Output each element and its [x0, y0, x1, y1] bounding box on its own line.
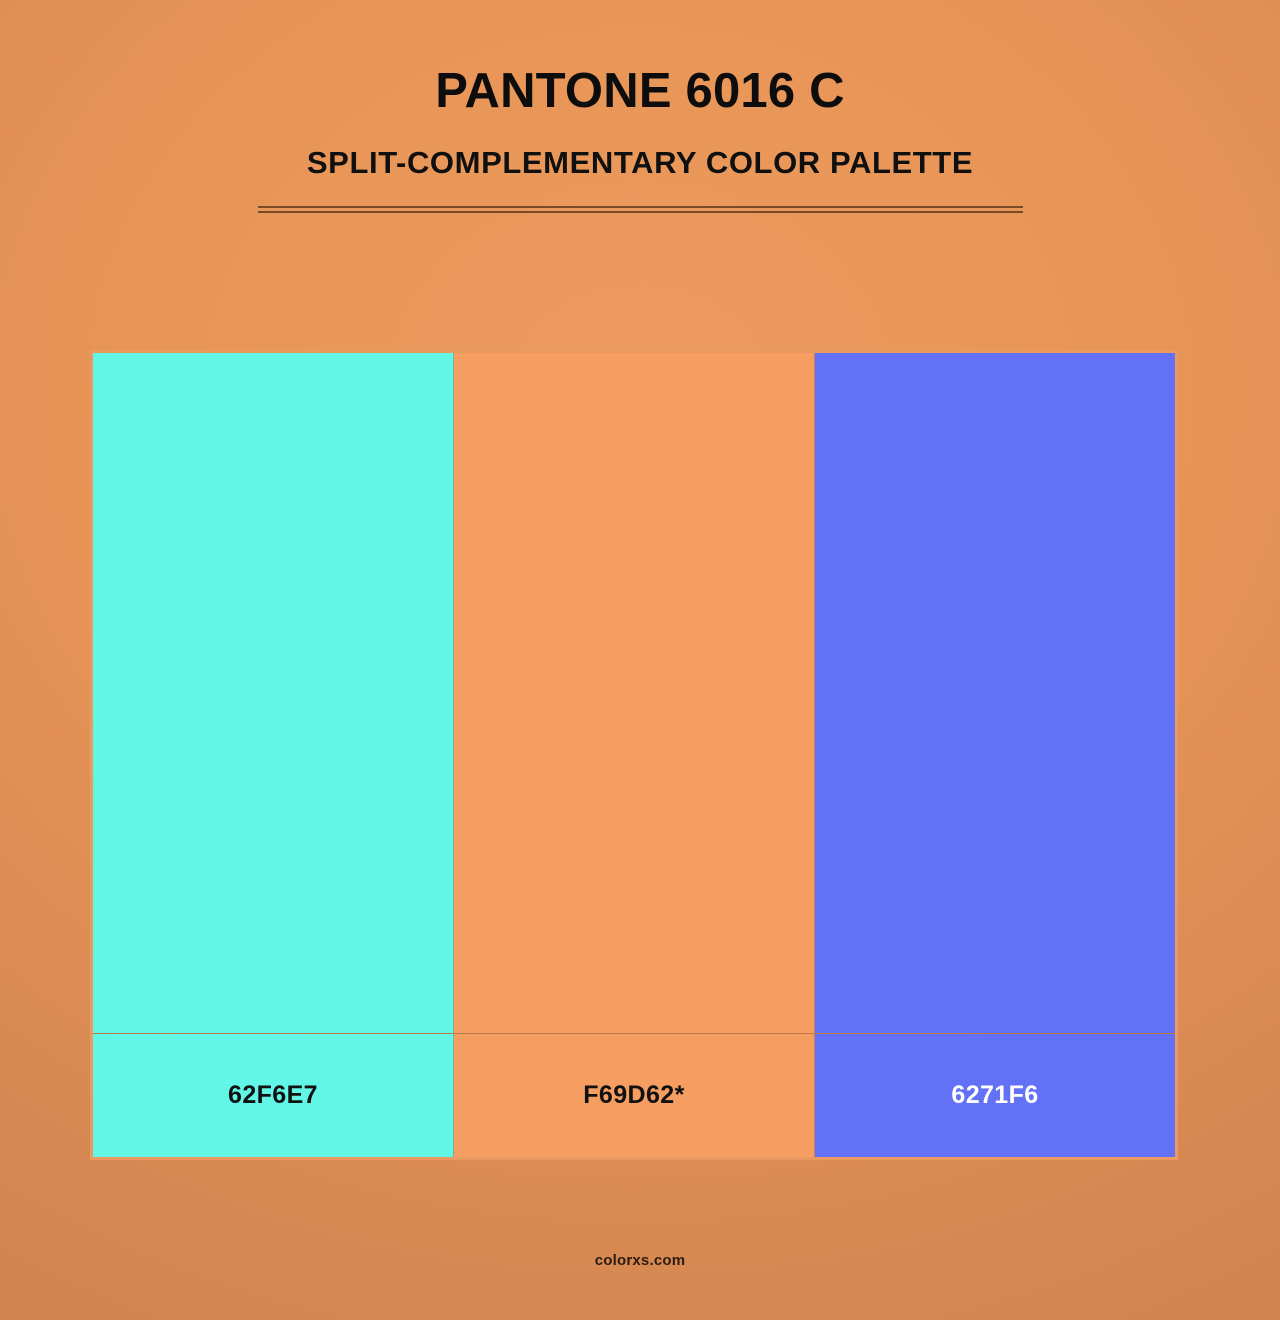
footer: colorxs.com [0, 1200, 1280, 1320]
site-watermark: colorxs.com [595, 1252, 686, 1269]
header-divider [258, 206, 1023, 213]
page-subtitle: SPLIT-COMPLEMENTARY COLOR PALETTE [307, 145, 973, 181]
color-swatch-1[interactable] [93, 353, 454, 1033]
page-title: PANTONE 6016 C [435, 66, 844, 118]
page-root: PANTONE 6016 C SPLIT-COMPLEMENTARY COLOR… [0, 0, 1280, 1320]
color-palette-block: 62F6E7 F69D62* 6271F6 [90, 350, 1178, 1160]
color-swatch-2[interactable] [454, 353, 815, 1033]
color-label-cell-2[interactable]: F69D62* [454, 1034, 815, 1157]
swatch-row [93, 353, 1175, 1033]
header: PANTONE 6016 C SPLIT-COMPLEMENTARY COLOR… [0, 0, 1280, 300]
swatch-label-row: 62F6E7 F69D62* 6271F6 [93, 1033, 1175, 1157]
hex-code-2: F69D62* [583, 1081, 684, 1110]
hex-code-3: 6271F6 [951, 1081, 1038, 1110]
hex-code-1: 62F6E7 [228, 1081, 318, 1110]
color-swatch-3[interactable] [815, 353, 1175, 1033]
color-label-cell-1[interactable]: 62F6E7 [93, 1034, 454, 1157]
color-label-cell-3[interactable]: 6271F6 [815, 1034, 1175, 1157]
